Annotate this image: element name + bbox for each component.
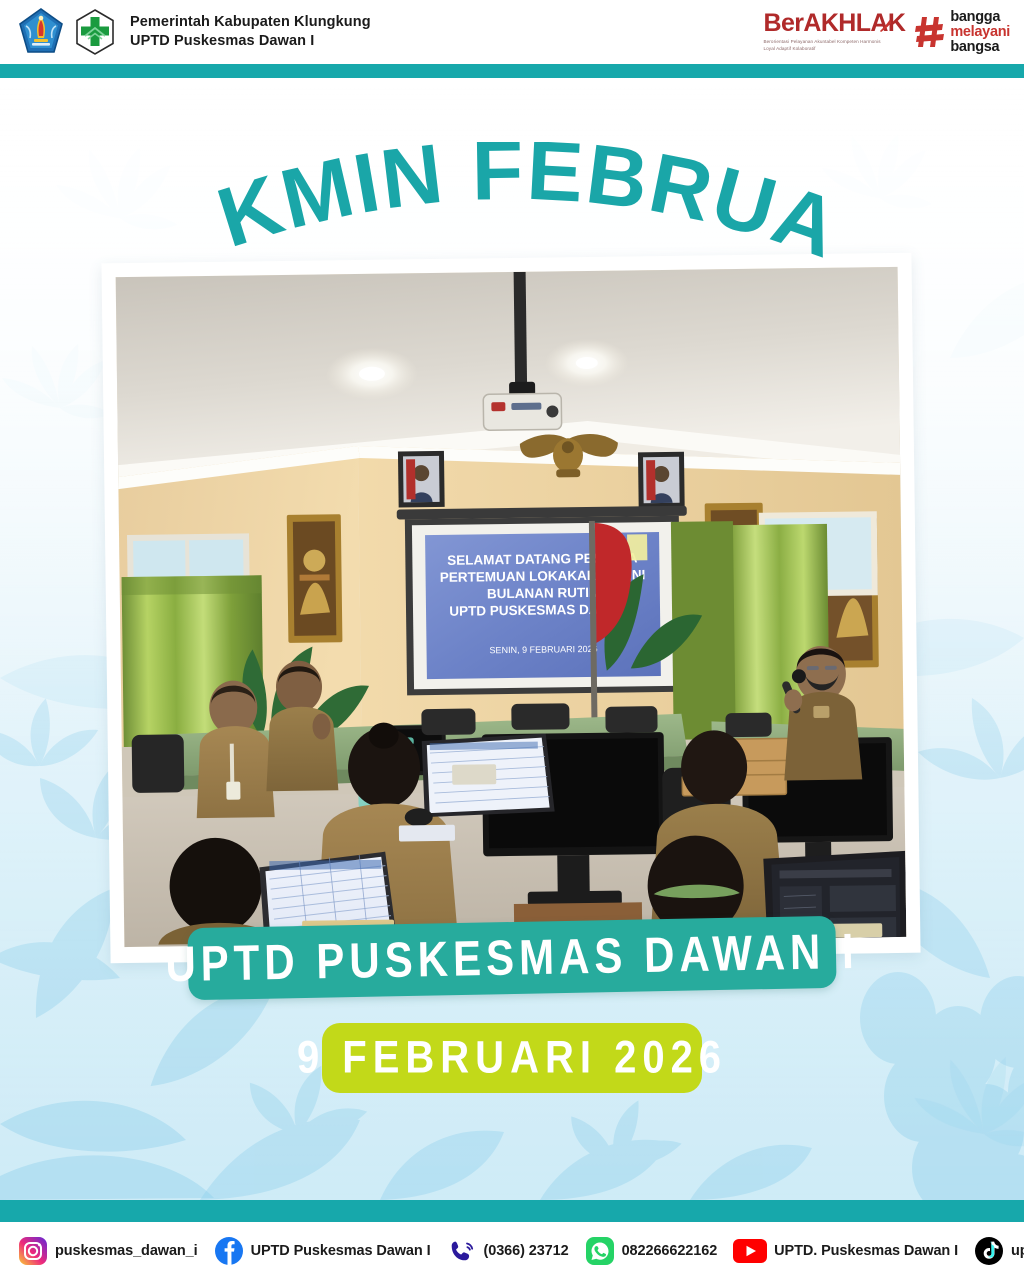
social-facebook-label: UPTD Puskesmas Dawan I — [251, 1243, 431, 1259]
instagram-icon — [18, 1236, 48, 1266]
header-title-block: Pemerintah Kabupaten Klungkung UPTD Pusk… — [130, 13, 371, 50]
social-facebook[interactable]: UPTD Puskesmas Dawan I — [214, 1236, 431, 1266]
header-line-1: Pemerintah Kabupaten Klungkung — [130, 13, 371, 32]
berakhlak-tagline: Berorientasi Pelayanan Akuntabel Kompete… — [763, 39, 887, 53]
bangga-wordmark: bangga melayani bangsa — [950, 10, 1010, 54]
header-teal-rule — [0, 64, 1024, 78]
tiktok-icon — [974, 1236, 1004, 1266]
youtube-icon — [733, 1239, 767, 1263]
social-instagram-label: puskesmas_dawan_i — [55, 1243, 198, 1259]
social-youtube-label: UPTD. Puskesmas Dawan I — [774, 1243, 958, 1259]
meeting-photo-illustration: SELAMAT DATANG PESERTA PERTEMUAN LOKAKAR… — [116, 267, 907, 947]
klungkung-regency-emblem-icon — [18, 8, 64, 56]
whatsapp-icon — [585, 1236, 615, 1266]
slide-line-5: SENIN, 9 FEBRUARI 2026 — [489, 644, 597, 655]
header-campaign-logos: BerAKHLAK Berorientasi Pelayanan Akuntab… — [763, 10, 1010, 54]
bangga-melayani-bangsa-logo: bangga melayani bangsa — [915, 10, 1010, 54]
footer-teal-rule — [0, 1200, 1024, 1222]
social-tiktok-label: uptd.puskesmasdw1 — [1011, 1243, 1024, 1259]
organization-banner-text: UPTD PUSKESMAS DAWAN I — [165, 923, 859, 993]
social-whatsapp[interactable]: 082266622162 — [585, 1236, 718, 1266]
poster-header: Pemerintah Kabupaten Klungkung UPTD Pusk… — [0, 0, 1024, 64]
poster-title: LOKMIN FEBRUARI — [0, 142, 1024, 260]
title-arc-text: LOKMIN FEBRUARI — [0, 142, 1024, 260]
social-phone-label: (0366) 23712 — [484, 1243, 569, 1259]
social-youtube[interactable]: UPTD. Puskesmas Dawan I — [733, 1239, 958, 1263]
organization-banner: UPTD PUSKESMAS DAWAN I — [187, 916, 836, 1000]
photo-frame: SELAMAT DATANG PESERTA PERTEMUAN LOKAKAR… — [101, 253, 920, 964]
bangga-line-3: bangsa — [950, 40, 1010, 55]
facebook-icon — [214, 1236, 244, 1266]
berakhlak-swoosh-icon — [879, 18, 892, 33]
slide-line-3: BULANAN RUTIN — [487, 585, 599, 601]
bangga-line-1: bangga — [950, 10, 1010, 25]
social-phone[interactable]: (0366) 23712 — [447, 1236, 569, 1266]
puskesmas-green-cross-icon — [72, 8, 118, 56]
event-date-text: 9 FEBRUARI 2026 — [297, 1032, 727, 1083]
bangga-hash-icon — [915, 15, 945, 49]
event-date-badge: 9 FEBRUARI 2026 — [322, 1023, 702, 1093]
phone-icon — [447, 1236, 477, 1266]
social-whatsapp-label: 082266622162 — [622, 1243, 718, 1259]
title-text-node: LOKMIN FEBRUARI — [0, 142, 852, 260]
social-instagram[interactable]: puskesmas_dawan_i — [18, 1236, 198, 1266]
berakhlak-logo: BerAKHLAK Berorientasi Pelayanan Akuntab… — [763, 11, 905, 53]
social-tiktok[interactable]: uptd.puskesmasdw1 — [974, 1236, 1024, 1266]
poster-canvas: LOKMIN FEBRUARI — [0, 0, 1024, 1280]
footer-social-bar: puskesmas_dawan_i UPTD Puskesmas Dawan I… — [0, 1222, 1024, 1280]
header-line-2: UPTD Puskesmas Dawan I — [130, 32, 371, 51]
bangga-line-2: melayani — [950, 25, 1010, 40]
header-branding: Pemerintah Kabupaten Klungkung UPTD Pusk… — [18, 8, 371, 56]
meeting-photo: SELAMAT DATANG PESERTA PERTEMUAN LOKAKAR… — [116, 267, 907, 947]
